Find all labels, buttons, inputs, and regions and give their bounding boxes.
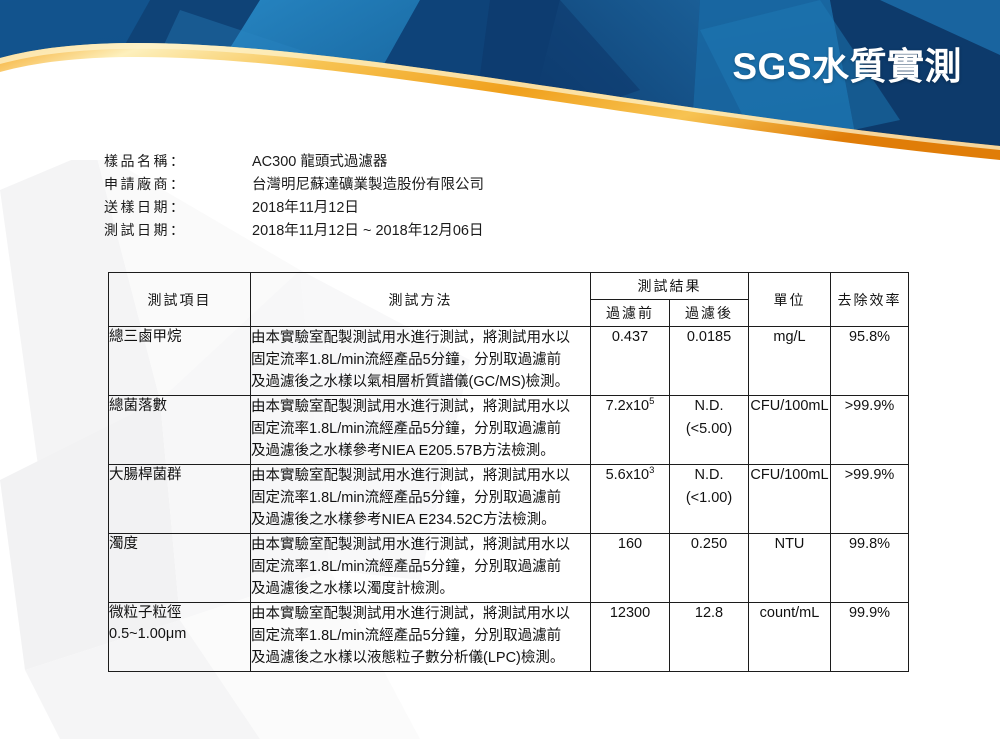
cell-removal-efficiency: 95.8% (831, 327, 909, 396)
cell-before-filter: 7.2x105 (591, 396, 670, 465)
slide-page: SGS水質實測 樣品名稱： AC300 龍頭式過濾器 申請廠商： 台灣明尼蘇達礦… (0, 0, 1000, 739)
th-test-result-group: 測試結果 (591, 273, 749, 300)
cell-removal-efficiency: >99.9% (831, 465, 909, 534)
info-value: 台灣明尼蘇達礦業製造股份有限公司 (252, 173, 484, 194)
th-unit: 單位 (749, 273, 831, 327)
method-line: 及過濾後之水樣參考NIEA E234.52C方法檢測。 (251, 509, 590, 531)
table-row: 總三鹵甲烷由本實驗室配製測試用水進行測試，將測試用水以固定流率1.8L/min流… (109, 327, 909, 396)
before-value-exponent: 5 (649, 396, 654, 407)
table-row: 總菌落數由本實驗室配製測試用水進行測試，將測試用水以固定流率1.8L/min流經… (109, 396, 909, 465)
method-line: 由本實驗室配製測試用水進行測試，將測試用水以 (251, 465, 590, 487)
info-row-applicant: 申請廠商： 台灣明尼蘇達礦業製造股份有限公司 (104, 173, 804, 196)
method-line: 及過濾後之水樣以氣相層析質譜儀(GC/MS)檢測。 (251, 371, 590, 393)
info-label: 測試日期： (104, 220, 252, 240)
after-value: 0.250 (670, 534, 748, 556)
cell-after-filter: N.D.(<5.00) (670, 396, 749, 465)
test-item-name: 微粒子粒徑 (109, 603, 250, 624)
cell-test-method: 由本實驗室配製測試用水進行測試，將測試用水以固定流率1.8L/min流經產品5分… (251, 396, 591, 465)
before-value-exponent: 3 (649, 465, 654, 476)
cell-test-method: 由本實驗室配製測試用水進行測試，將測試用水以固定流率1.8L/min流經產品5分… (251, 465, 591, 534)
info-value: 2018年11月12日 (252, 196, 359, 217)
method-line: 固定流率1.8L/min流經產品5分鐘，分別取過濾前 (251, 487, 590, 509)
method-line: 由本實驗室配製測試用水進行測試，將測試用水以 (251, 603, 590, 625)
th-efficiency: 去除效率 (831, 273, 909, 327)
test-item-name: 大腸桿菌群 (109, 465, 250, 486)
method-line: 及過濾後之水樣參考NIEA E205.57B方法檢測。 (251, 440, 590, 462)
after-value: 12.8 (670, 603, 748, 625)
cell-before-filter: 160 (591, 534, 670, 603)
th-after-filter: 過濾後 (670, 300, 749, 327)
cell-removal-efficiency: >99.9% (831, 396, 909, 465)
cell-before-filter: 12300 (591, 603, 670, 672)
cell-test-item: 微粒子粒徑0.5~1.00μm (109, 603, 251, 672)
cell-unit: CFU/100mL (749, 465, 831, 534)
before-value: 12300 (610, 605, 650, 621)
method-line: 固定流率1.8L/min流經產品5分鐘，分別取過濾前 (251, 418, 590, 440)
method-line: 固定流率1.8L/min流經產品5分鐘，分別取過濾前 (251, 625, 590, 647)
info-row-test-date: 測試日期： 2018年11月12日 ~ 2018年12月06日 (104, 219, 804, 242)
cell-test-item: 濁度 (109, 534, 251, 603)
info-row-sample-name: 樣品名稱： AC300 龍頭式過濾器 (104, 150, 804, 173)
cell-test-item: 總三鹵甲烷 (109, 327, 251, 396)
cell-unit: count/mL (749, 603, 831, 672)
after-value: N.D. (670, 465, 748, 487)
header-decoration: SGS水質實測 (0, 0, 1000, 160)
method-line: 由本實驗室配製測試用水進行測試，將測試用水以 (251, 327, 590, 349)
method-line: 由本實驗室配製測試用水進行測試，將測試用水以 (251, 396, 590, 418)
method-line: 固定流率1.8L/min流經產品5分鐘，分別取過濾前 (251, 349, 590, 371)
cell-test-item: 大腸桿菌群 (109, 465, 251, 534)
test-item-name: 總三鹵甲烷 (109, 327, 250, 348)
before-value: 160 (618, 536, 642, 552)
table-header-row-1: 測試項目 測試方法 測試結果 單位 去除效率 (109, 273, 909, 300)
table-body: 總三鹵甲烷由本實驗室配製測試用水進行測試，將測試用水以固定流率1.8L/min流… (109, 327, 909, 672)
info-value: 2018年11月12日 ~ 2018年12月06日 (252, 219, 483, 240)
cell-after-filter: 0.0185 (670, 327, 749, 396)
cell-after-filter: N.D.(<1.00) (670, 465, 749, 534)
cell-test-method: 由本實驗室配製測試用水進行測試，將測試用水以固定流率1.8L/min流經產品5分… (251, 603, 591, 672)
table-row: 濁度由本實驗室配製測試用水進行測試，將測試用水以固定流率1.8L/min流經產品… (109, 534, 909, 603)
th-before-filter: 過濾前 (591, 300, 670, 327)
info-label: 樣品名稱： (104, 151, 252, 171)
method-line: 固定流率1.8L/min流經產品5分鐘，分別取過濾前 (251, 556, 590, 578)
th-test-method: 測試方法 (251, 273, 591, 327)
info-label: 申請廠商： (104, 174, 252, 194)
after-value: N.D. (670, 396, 748, 418)
cell-removal-efficiency: 99.8% (831, 534, 909, 603)
after-value-detection-limit: (<5.00) (670, 419, 748, 441)
cell-removal-efficiency: 99.9% (831, 603, 909, 672)
cell-test-method: 由本實驗室配製測試用水進行測試，將測試用水以固定流率1.8L/min流經產品5分… (251, 534, 591, 603)
before-value: 0.437 (612, 329, 648, 345)
after-value-detection-limit: (<1.00) (670, 488, 748, 510)
cell-before-filter: 0.437 (591, 327, 670, 396)
before-value: 5.6x10 (606, 467, 650, 483)
cell-after-filter: 12.8 (670, 603, 749, 672)
cell-unit: CFU/100mL (749, 396, 831, 465)
th-test-item: 測試項目 (109, 273, 251, 327)
cell-unit: mg/L (749, 327, 831, 396)
test-item-name: 濁度 (109, 534, 250, 555)
info-row-submission-date: 送樣日期： 2018年11月12日 (104, 196, 804, 219)
method-line: 及過濾後之水樣以濁度計檢測。 (251, 578, 590, 600)
method-line: 由本實驗室配製測試用水進行測試，將測試用水以 (251, 534, 590, 556)
table-row: 微粒子粒徑0.5~1.00μm由本實驗室配製測試用水進行測試，將測試用水以固定流… (109, 603, 909, 672)
table-row: 大腸桿菌群由本實驗室配製測試用水進行測試，將測試用水以固定流率1.8L/min流… (109, 465, 909, 534)
cell-before-filter: 5.6x103 (591, 465, 670, 534)
info-value: AC300 龍頭式過濾器 (252, 150, 387, 171)
test-results-table: 測試項目 測試方法 測試結果 單位 去除效率 過濾前 過濾後 總三鹵甲烷由本實驗… (108, 272, 909, 672)
cell-unit: NTU (749, 534, 831, 603)
sample-info-block: 樣品名稱： AC300 龍頭式過濾器 申請廠商： 台灣明尼蘇達礦業製造股份有限公… (104, 150, 804, 242)
method-line: 及過濾後之水樣以液態粒子數分析儀(LPC)檢測。 (251, 647, 590, 669)
page-title: SGS水質實測 (732, 36, 962, 90)
before-value: 7.2x10 (606, 398, 650, 414)
test-item-subtext: 0.5~1.00μm (109, 624, 250, 645)
cell-test-method: 由本實驗室配製測試用水進行測試，將測試用水以固定流率1.8L/min流經產品5分… (251, 327, 591, 396)
after-value: 0.0185 (670, 327, 748, 349)
cell-test-item: 總菌落數 (109, 396, 251, 465)
info-label: 送樣日期： (104, 197, 252, 217)
cell-after-filter: 0.250 (670, 534, 749, 603)
test-item-name: 總菌落數 (109, 396, 250, 417)
